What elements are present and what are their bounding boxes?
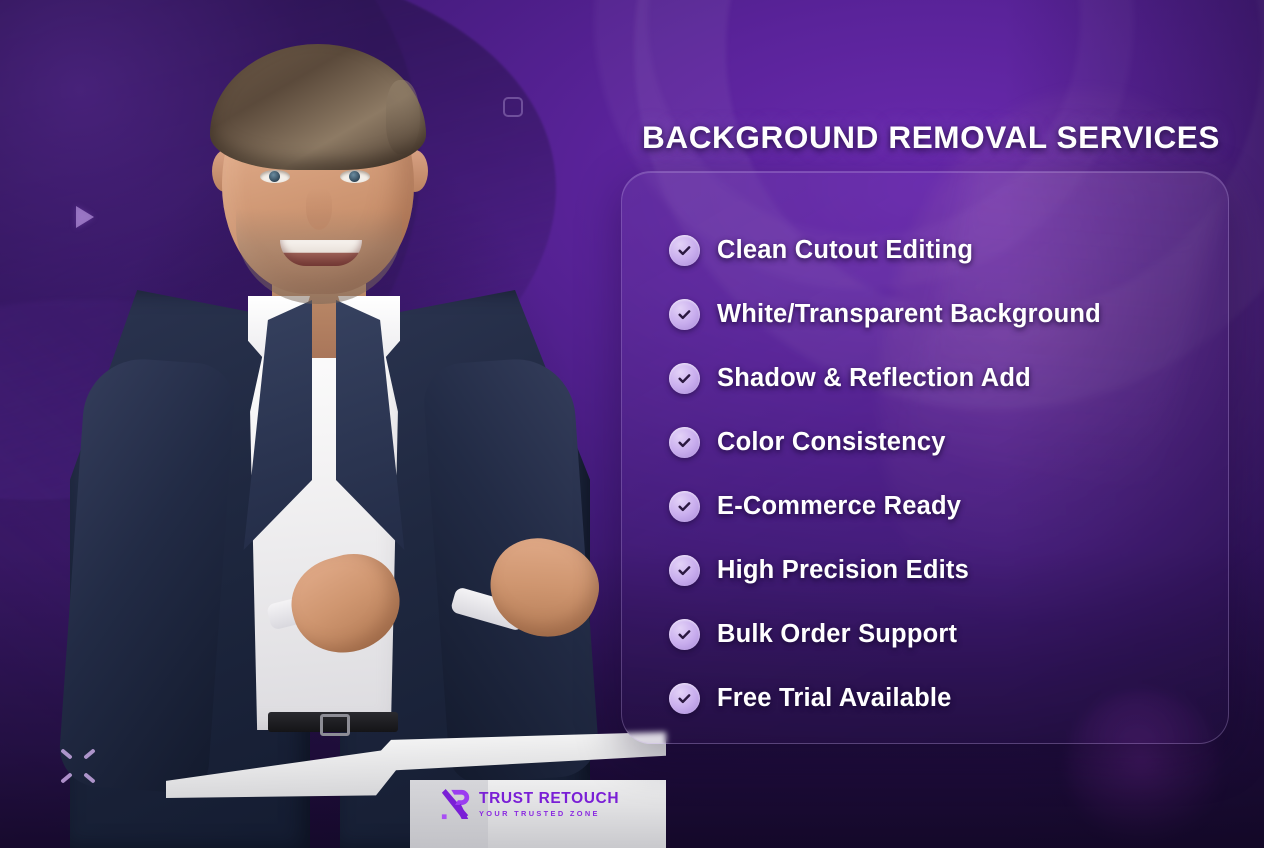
subject-hair (210, 44, 426, 170)
rounded-square-outline-icon (503, 97, 523, 117)
feature-list-item: High Precision Edits (669, 538, 1209, 602)
feature-list-item: Clean Cutout Editing (669, 218, 1209, 282)
brand-logo-text: TRUST RETOUCH YOUR TRUSTED ZONE (479, 791, 619, 817)
feature-label: E-Commerce Ready (717, 492, 961, 521)
feature-list-item: Free Trial Available (669, 666, 1209, 730)
feature-list: Clean Cutout EditingWhite/Transparent Ba… (669, 218, 1209, 730)
feature-list-item: Bulk Order Support (669, 602, 1209, 666)
feature-list-item: E-Commerce Ready (669, 474, 1209, 538)
smiling-mouth (280, 240, 362, 266)
check-circle-icon (669, 555, 700, 586)
feature-label: Free Trial Available (717, 684, 952, 713)
feature-label: Clean Cutout Editing (717, 236, 973, 265)
check-circle-icon (669, 491, 700, 522)
feature-label: High Precision Edits (717, 556, 969, 585)
eye-left (260, 170, 290, 183)
brand-tagline: YOUR TRUSTED ZONE (479, 810, 619, 817)
features-card: Clean Cutout EditingWhite/Transparent Ba… (621, 171, 1229, 744)
feature-label: Color Consistency (717, 428, 946, 457)
check-circle-icon (669, 683, 700, 714)
check-circle-icon (669, 427, 700, 458)
feature-list-item: Color Consistency (669, 410, 1209, 474)
promotional-banner: TRUST RETOUCH YOUR TRUSTED ZONE BACKGROU… (0, 0, 1264, 848)
feature-list-item: White/Transparent Background (669, 282, 1209, 346)
check-circle-icon (669, 299, 700, 330)
feature-label: Shadow & Reflection Add (717, 364, 1031, 393)
check-circle-icon (669, 619, 700, 650)
stylized-r-logo-icon (440, 787, 472, 821)
brand-logo: TRUST RETOUCH YOUR TRUSTED ZONE (440, 787, 619, 821)
brand-name: TRUST RETOUCH (479, 791, 619, 807)
feature-label: Bulk Order Support (717, 620, 957, 649)
feature-label: White/Transparent Background (717, 300, 1101, 329)
check-circle-icon (669, 363, 700, 394)
check-circle-icon (669, 235, 700, 266)
eye-right (340, 170, 370, 183)
sparkle-icon (60, 748, 96, 784)
page-title: BACKGROUND REMOVAL SERVICES (642, 119, 1220, 156)
nose (306, 188, 332, 230)
feature-list-item: Shadow & Reflection Add (669, 346, 1209, 410)
play-triangle-icon (76, 206, 94, 228)
presenting-businessman-photo (0, 0, 640, 848)
